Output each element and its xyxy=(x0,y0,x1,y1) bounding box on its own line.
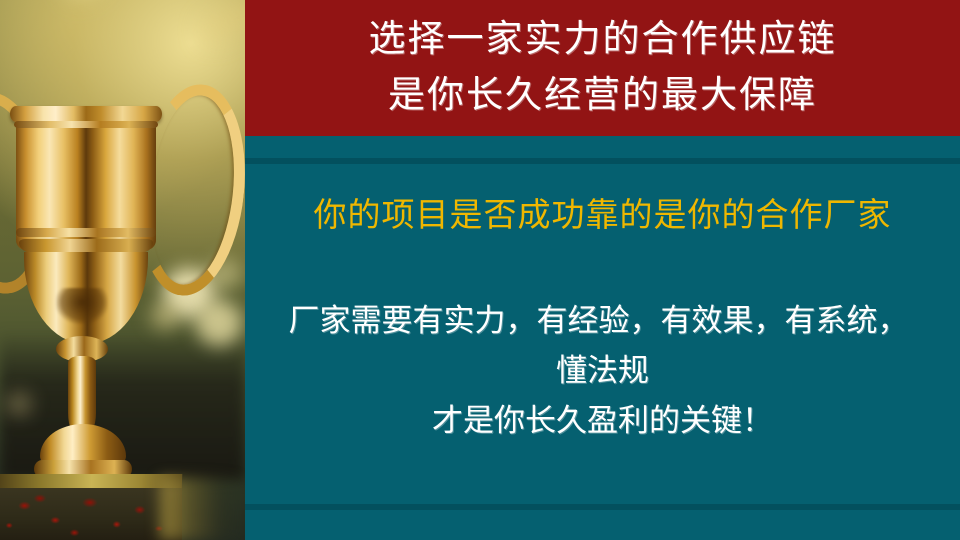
subheading: 你的项目是否成功靠的是你的合作厂家 xyxy=(245,194,960,238)
presentation-slide: 选择一家实力的合作供应链 是你长久经营的最大保障 你的项目是否成功靠的是你的合作… xyxy=(0,0,960,540)
trophy-cup-rim xyxy=(10,106,162,122)
title-line-1: 选择一家实力的合作供应链 xyxy=(369,12,837,68)
trophy-reflection-shadow xyxy=(56,288,108,324)
trophy-cup-ring xyxy=(16,228,156,237)
divider-top xyxy=(245,158,960,164)
bokeh-highlight xyxy=(6,392,32,416)
plinth-light-glow xyxy=(160,478,245,540)
divider-bottom xyxy=(245,504,960,510)
title-line-2: 是你长久经营的最大保障 xyxy=(388,68,817,124)
body-line-3: 才是你长久盈利的关键！ xyxy=(245,396,960,446)
body-line-2: 懂法规 xyxy=(245,346,960,396)
body-text: 厂家需要有实力，有经验，有效果，有系统， 懂法规 才是你长久盈利的关键！ xyxy=(245,296,960,446)
trophy-photo xyxy=(0,0,245,540)
header-banner: 选择一家实力的合作供应链 是你长久经营的最大保障 xyxy=(245,0,960,136)
body-line-1: 厂家需要有实力，有经验，有效果，有系统， xyxy=(237,296,960,346)
plinth-marble xyxy=(0,488,182,540)
content-panel: 你的项目是否成功靠的是你的合作厂家 厂家需要有实力，有经验，有效果，有系统， 懂… xyxy=(245,136,960,540)
trophy-cup-rim-inner xyxy=(14,121,158,128)
trophy-cup-lower-lip xyxy=(19,239,153,253)
bokeh-highlight xyxy=(150,302,180,330)
bokeh-highlight xyxy=(196,300,242,346)
